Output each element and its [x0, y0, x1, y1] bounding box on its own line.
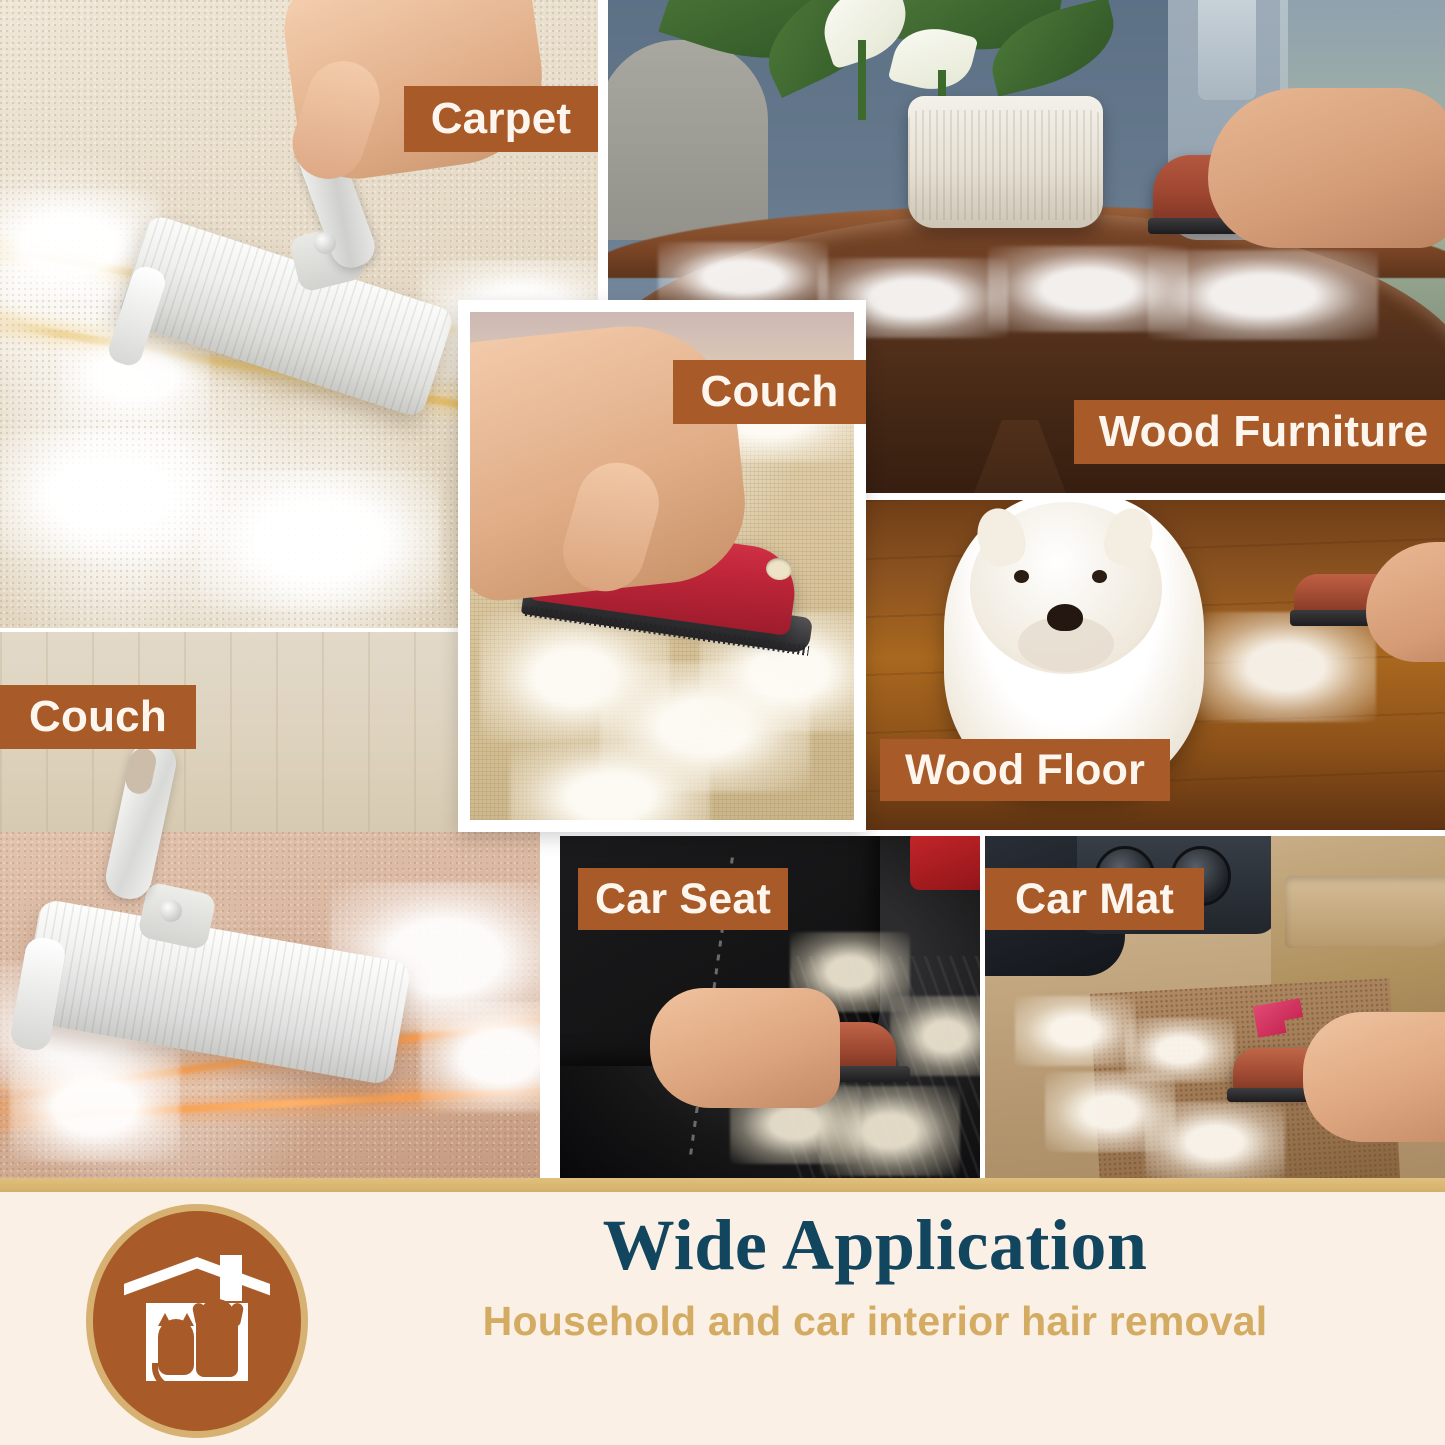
chair-back — [608, 40, 768, 240]
cat-tail — [152, 1363, 202, 1391]
hand — [1303, 1012, 1445, 1142]
label-car-mat: Car Mat — [985, 868, 1204, 930]
red-trim — [910, 836, 980, 890]
footer-text-block: Wide Application Household and car inter… — [330, 1208, 1420, 1345]
dog-nose — [1047, 604, 1083, 631]
fur-clump — [1148, 250, 1378, 340]
label-car-seat-text: Car Seat — [595, 878, 771, 921]
infographic-page: Carpet — [0, 0, 1445, 1445]
dog-eye — [1092, 570, 1107, 583]
label-couch-left-text: Couch — [29, 695, 167, 739]
label-car-seat: Car Seat — [578, 868, 788, 930]
label-couch-center-text: Couch — [701, 370, 839, 414]
fur-clump — [820, 1086, 960, 1176]
gold-divider — [0, 1178, 1445, 1192]
fur-pile — [1196, 612, 1376, 722]
seat-back-pocket — [1285, 876, 1445, 948]
label-carpet: Carpet — [404, 86, 598, 152]
fur-clump — [890, 996, 980, 1076]
label-couch-left: Couch — [0, 685, 196, 749]
hand — [650, 988, 840, 1108]
footer-title: Wide Application — [330, 1208, 1420, 1284]
dog-eye — [1014, 570, 1029, 583]
fur-clump — [0, 430, 220, 560]
label-couch-center: Couch — [673, 360, 866, 424]
hand — [1208, 88, 1445, 248]
label-wood-furniture: Wood Furniture — [1074, 400, 1445, 464]
fur-clump — [1145, 1102, 1285, 1180]
fur-clump — [1125, 1018, 1235, 1082]
roller-ribs — [117, 213, 456, 418]
label-car-mat-text: Car Mat — [1015, 878, 1174, 921]
stem — [858, 40, 866, 120]
fur-clump — [1015, 996, 1135, 1066]
roller-ribs — [20, 898, 412, 1085]
roller-knob — [314, 232, 336, 254]
panel-wood-floor: Wood Floor — [866, 500, 1445, 830]
house-with-cat-and-dog-icon — [86, 1204, 308, 1438]
panel-couch-center: Couch — [458, 300, 866, 832]
cat-ear — [158, 1313, 172, 1326]
badge-artwork — [122, 1251, 272, 1391]
label-wood-floor: Wood Floor — [880, 739, 1170, 801]
vase-texture — [908, 110, 1103, 220]
panel-car-seat: Car Seat — [560, 836, 980, 1180]
pet-hair-roller-white — [10, 740, 480, 1100]
cat-ear — [180, 1313, 194, 1326]
label-wood-floor-text: Wood Floor — [905, 749, 1145, 792]
fur-clump — [200, 470, 440, 610]
label-carpet-text: Carpet — [431, 97, 572, 141]
footer-subtitle: Household and car interior hair removal — [330, 1298, 1420, 1345]
label-wood-furniture-text: Wood Furniture — [1099, 410, 1429, 454]
roller-knob — [160, 900, 182, 922]
fur-clump — [510, 742, 710, 820]
panel-car-mat: Car Mat — [985, 836, 1445, 1180]
glass-bottle-small — [1198, 0, 1256, 100]
